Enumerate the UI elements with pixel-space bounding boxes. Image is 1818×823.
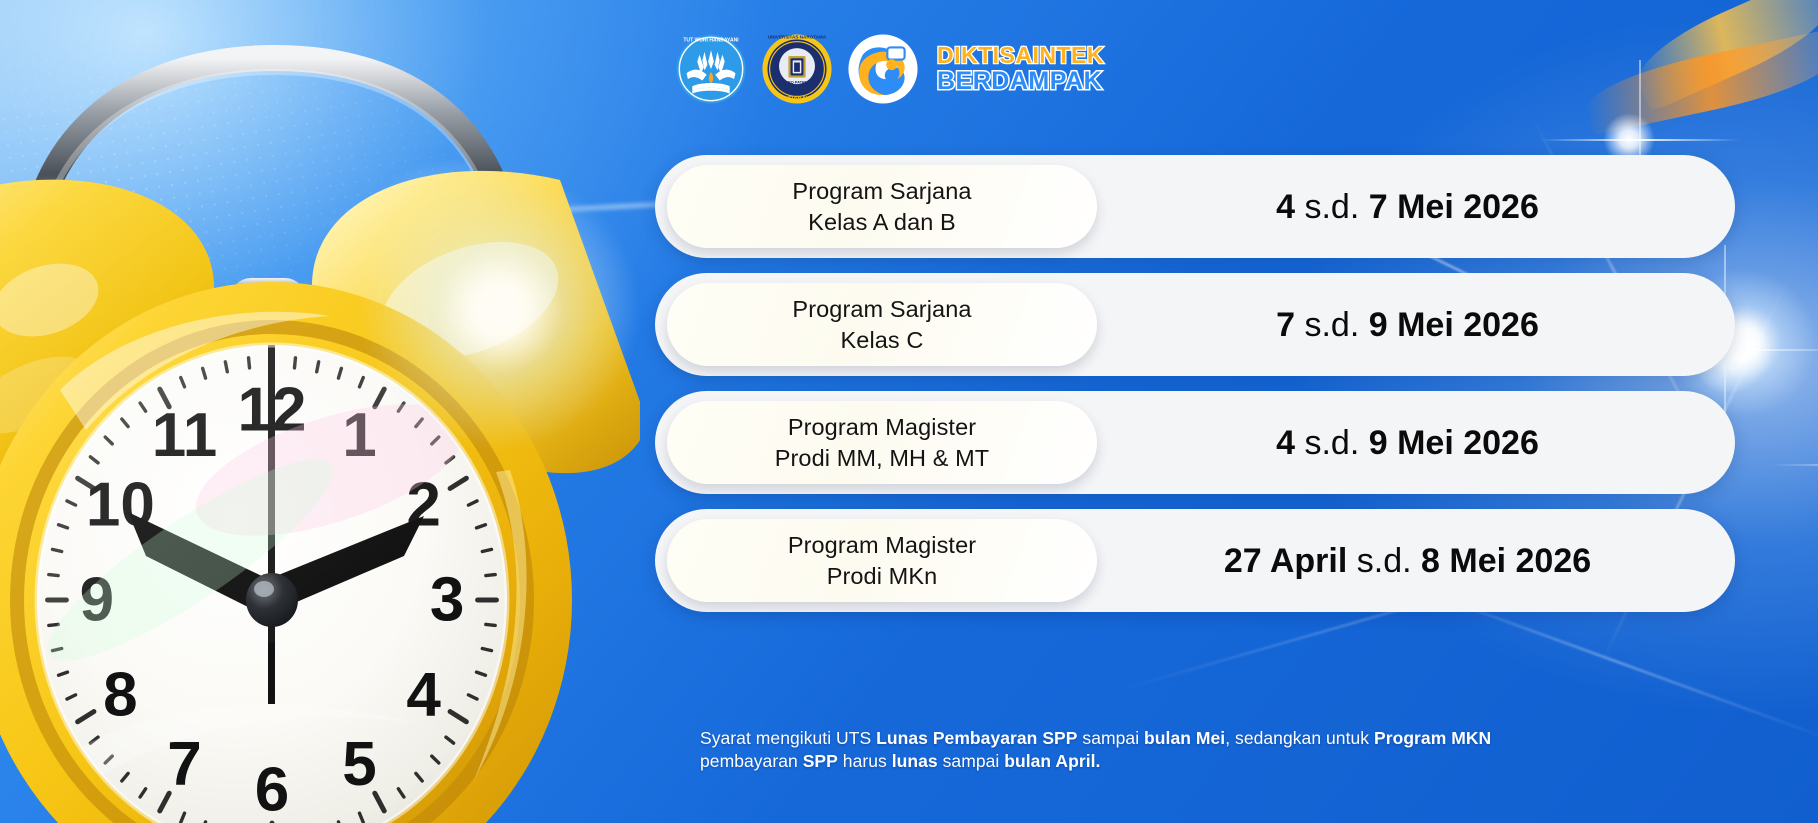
footer-text: , sedangkan untuk <box>1225 728 1374 748</box>
date-separator: s.d. <box>1304 424 1359 462</box>
footer-emphasis: bulan April. <box>1004 751 1100 771</box>
logo-bar: TUT WURI HANDAYANI PRO PATRIA SURABAYA U… <box>675 33 1104 105</box>
program-name-pill: Program MagisterProdi MM, MH & MT <box>667 401 1097 484</box>
narotama-motto: PRO PATRIA <box>785 79 809 84</box>
date-separator: s.d. <box>1304 306 1359 344</box>
payment-requirement-note: Syarat mengikuti UTS Lunas Pembayaran SP… <box>700 727 1580 774</box>
svg-text:UNIVERSITAS NAROTAMA: UNIVERSITAS NAROTAMA <box>768 34 827 39</box>
date-separator: s.d. <box>1357 542 1412 580</box>
footer-text: Syarat mengikuti UTS <box>700 728 876 748</box>
orange-lens-ghost-lower <box>1582 30 1818 136</box>
date-start: 4 <box>1276 424 1295 462</box>
schedule-card-list: Program SarjanaKelas A dan B4 s.d. 7 Mei… <box>655 155 1735 627</box>
program-line-2: Prodi MKn <box>827 561 938 591</box>
footer-emphasis: bulan Mei <box>1144 728 1225 748</box>
universitas-narotama-surabaya-logo: PRO PATRIA SURABAYA UNIVERSITAS NAROTAMA <box>761 33 833 105</box>
date-separator: s.d. <box>1304 188 1359 226</box>
footer-emphasis: lunas <box>892 751 938 771</box>
tut-wuri-caption: TUT WURI HANDAYANI <box>683 38 739 44</box>
program-name-pill: Program MagisterProdi MKn <box>667 519 1097 602</box>
wordmark-line-1: DIKTISAINTEK <box>937 44 1104 67</box>
footer-text: harus <box>838 751 892 771</box>
tut-wuri-handayani-logo: TUT WURI HANDAYANI <box>675 33 747 105</box>
program-name-pill: Program SarjanaKelas A dan B <box>667 165 1097 248</box>
diktisaintek-mark-icon <box>847 33 919 105</box>
footer-text: pembayaran <box>700 751 803 771</box>
clock-numeral: 6 <box>255 755 289 823</box>
footer-text: sampai <box>1078 728 1145 748</box>
footer-text: sampai <box>938 751 1005 771</box>
schedule-card: Program SarjanaKelas C7 s.d. 9 Mei 2026 <box>655 273 1735 376</box>
date-start: 27 April <box>1224 542 1347 580</box>
clock-numeral: 5 <box>342 730 376 799</box>
schedule-card: Program MagisterProdi MKn27 April s.d. 8… <box>655 509 1735 612</box>
date-start: 4 <box>1276 188 1295 226</box>
diktisaintek-berdampak-wordmark: DIKTISAINTEK BERDAMPAK <box>937 44 1104 94</box>
date-end: 7 Mei 2026 <box>1369 188 1539 226</box>
program-line-2: Kelas A dan B <box>808 207 956 237</box>
footer-emphasis: SPP <box>803 751 838 771</box>
clock-numeral: 8 <box>103 660 137 729</box>
schedule-card: Program MagisterProdi MM, MH & MT4 s.d. … <box>655 391 1735 494</box>
program-line-1: Program Sarjana <box>792 294 971 324</box>
sparkle-star-icon <box>1770 400 1818 530</box>
date-end: 9 Mei 2026 <box>1369 306 1539 344</box>
date-end: 9 Mei 2026 <box>1369 424 1539 462</box>
orange-lens-ghost-upper <box>1626 0 1818 112</box>
program-line-2: Kelas C <box>841 325 924 355</box>
program-name-pill: Program SarjanaKelas C <box>667 283 1097 366</box>
clock-numeral: 3 <box>430 566 464 635</box>
exam-date-range: 4 s.d. 9 Mei 2026 <box>1110 426 1705 460</box>
wordmark-line-2: BERDAMPAK <box>937 69 1104 94</box>
program-line-1: Program Magister <box>788 530 976 560</box>
program-line-1: Program Magister <box>788 412 976 442</box>
exam-date-range: 27 April s.d. 8 Mei 2026 <box>1110 544 1705 578</box>
exam-date-range: 4 s.d. 7 Mei 2026 <box>1110 190 1705 224</box>
promo-banner: 121234567891011 <box>0 0 1818 823</box>
svg-text:SURABAYA: SURABAYA <box>781 96 814 102</box>
date-end: 8 Mei 2026 <box>1421 542 1591 580</box>
footer-emphasis: Program MKN <box>1374 728 1491 748</box>
alarm-clock-illustration: 121234567891011 <box>0 0 640 823</box>
schedule-card: Program SarjanaKelas A dan B4 s.d. 7 Mei… <box>655 155 1735 258</box>
program-line-1: Program Sarjana <box>792 176 971 206</box>
clock-numeral: 4 <box>406 660 441 729</box>
footer-emphasis: Lunas Pembayaran SPP <box>876 728 1077 748</box>
program-line-2: Prodi MM, MH & MT <box>775 443 990 473</box>
date-start: 7 <box>1276 306 1295 344</box>
exam-date-range: 7 s.d. 9 Mei 2026 <box>1110 308 1705 342</box>
